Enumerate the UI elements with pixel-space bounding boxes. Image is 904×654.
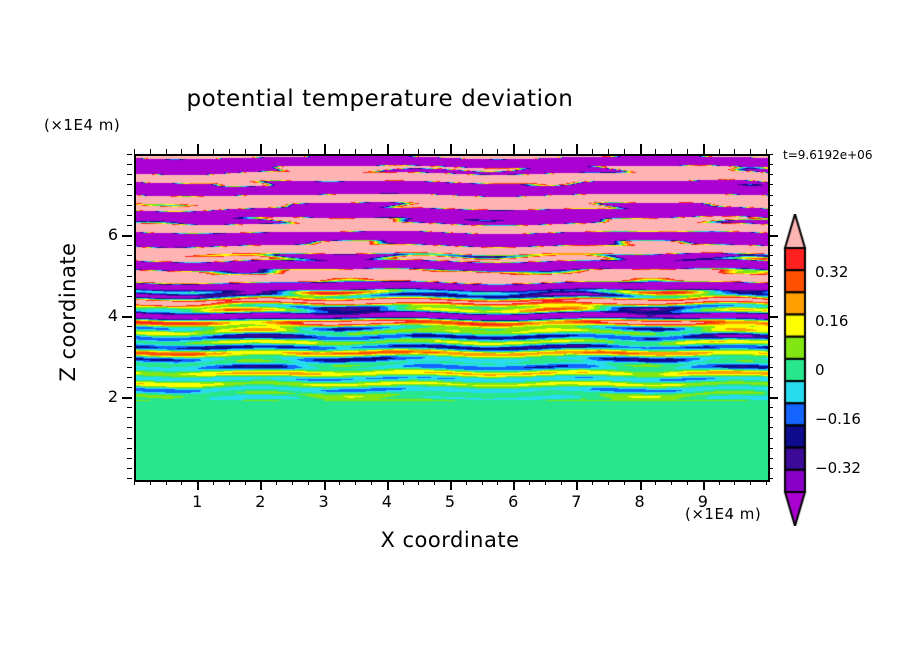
z-minor-tick-right — [768, 458, 773, 459]
x-minor-tick-top — [371, 149, 372, 154]
z-minor-tick-right — [768, 195, 773, 196]
z-minor-tick — [127, 205, 132, 206]
z-minor-tick-right — [768, 215, 773, 216]
x-major-tick-top — [324, 144, 326, 154]
z-minor-tick-right — [768, 296, 773, 297]
x-minor-tick-top — [624, 149, 625, 154]
z-minor-tick-right — [768, 417, 773, 418]
z-minor-tick-right — [768, 336, 773, 337]
time-annotation: t=9.6192e+06 — [783, 148, 872, 162]
z-minor-tick — [127, 276, 132, 277]
x-minor-tick — [529, 480, 530, 485]
x-minor-tick-top — [608, 149, 609, 154]
x-minor-tick — [466, 480, 467, 485]
x-minor-tick — [339, 480, 340, 485]
x-major-tick — [260, 480, 262, 490]
z-minor-tick-right — [768, 205, 773, 206]
colorbar-tick-label: 0.16 — [815, 312, 848, 330]
colorbar-tick-label: −0.16 — [815, 410, 861, 428]
x-minor-tick-top — [497, 149, 498, 154]
x-minor-tick — [624, 480, 625, 485]
x-minor-tick — [482, 480, 483, 485]
x-minor-tick — [229, 480, 230, 485]
z-minor-tick — [127, 265, 132, 266]
z-minor-tick — [127, 478, 132, 479]
z-minor-tick-right — [768, 478, 773, 479]
x-major-tick-top — [703, 144, 705, 154]
x-minor-tick-top — [545, 149, 546, 154]
x-minor-tick-top — [529, 149, 530, 154]
z-minor-tick-right — [768, 154, 773, 155]
z-minor-tick-right — [768, 438, 773, 439]
x-minor-tick-top — [561, 149, 562, 154]
x-minor-tick-top — [292, 149, 293, 154]
x-tick-label: 5 — [435, 492, 465, 511]
x-major-tick-top — [513, 144, 515, 154]
z-axis-unit-label: (×1E4 m) — [44, 116, 120, 134]
z-minor-tick — [127, 417, 132, 418]
x-minor-tick-top — [339, 149, 340, 154]
z-minor-tick — [127, 225, 132, 226]
x-major-tick — [324, 480, 326, 490]
z-minor-tick-right — [768, 377, 773, 378]
z-major-tick — [122, 316, 132, 318]
z-minor-tick-right — [768, 407, 773, 408]
x-major-tick-top — [450, 144, 452, 154]
z-minor-tick — [127, 255, 132, 256]
x-minor-tick — [545, 480, 546, 485]
x-minor-tick — [181, 480, 182, 485]
x-minor-tick — [734, 480, 735, 485]
x-minor-tick-top — [418, 149, 419, 154]
z-minor-tick-right — [768, 306, 773, 307]
z-major-tick — [122, 235, 132, 237]
z-minor-tick-right — [768, 184, 773, 185]
z-minor-tick-right — [768, 286, 773, 287]
z-minor-tick-right — [768, 174, 773, 175]
z-minor-tick-right — [768, 387, 773, 388]
z-minor-tick — [127, 387, 132, 388]
x-tick-label: 3 — [309, 492, 339, 511]
x-minor-tick — [719, 480, 720, 485]
z-major-tick-right — [768, 397, 778, 399]
x-major-tick — [450, 480, 452, 490]
z-minor-tick — [127, 195, 132, 196]
x-tick-label: 7 — [561, 492, 591, 511]
colorbar-tick-label: 0.32 — [815, 263, 848, 281]
x-minor-tick-top — [655, 149, 656, 154]
z-minor-tick-right — [768, 245, 773, 246]
x-minor-tick — [766, 480, 767, 485]
x-major-tick — [640, 480, 642, 490]
x-minor-tick — [213, 480, 214, 485]
z-minor-tick-right — [768, 448, 773, 449]
z-minor-tick-right — [768, 468, 773, 469]
z-minor-tick-right — [768, 346, 773, 347]
z-minor-tick — [127, 215, 132, 216]
z-minor-tick — [127, 306, 132, 307]
z-minor-tick — [127, 438, 132, 439]
x-minor-tick-top — [466, 149, 467, 154]
z-minor-tick — [127, 296, 132, 297]
x-minor-tick-top — [434, 149, 435, 154]
z-minor-tick-right — [768, 225, 773, 226]
colorbar — [783, 214, 807, 526]
z-minor-tick-right — [768, 357, 773, 358]
x-minor-tick-top — [719, 149, 720, 154]
x-minor-tick — [308, 480, 309, 485]
x-minor-tick-top — [482, 149, 483, 154]
z-minor-tick — [127, 164, 132, 165]
z-minor-tick-right — [768, 255, 773, 256]
x-minor-tick — [134, 480, 135, 485]
x-minor-tick-top — [403, 149, 404, 154]
x-major-tick — [703, 480, 705, 490]
x-minor-tick-top — [276, 149, 277, 154]
x-minor-tick — [671, 480, 672, 485]
x-minor-tick-top — [213, 149, 214, 154]
z-minor-tick — [127, 407, 132, 408]
x-minor-tick-top — [181, 149, 182, 154]
x-major-tick — [576, 480, 578, 490]
x-minor-tick — [403, 480, 404, 485]
x-minor-tick-top — [166, 149, 167, 154]
z-minor-tick-right — [768, 326, 773, 327]
z-minor-tick-right — [768, 427, 773, 428]
x-minor-tick-top — [245, 149, 246, 154]
z-minor-tick — [127, 336, 132, 337]
x-minor-tick — [166, 480, 167, 485]
z-minor-tick — [127, 286, 132, 287]
z-minor-tick — [127, 184, 132, 185]
z-minor-tick — [127, 458, 132, 459]
x-minor-tick-top — [734, 149, 735, 154]
x-minor-tick — [608, 480, 609, 485]
x-minor-tick-top — [671, 149, 672, 154]
z-minor-tick — [127, 367, 132, 368]
x-tick-label: 1 — [182, 492, 212, 511]
x-minor-tick — [371, 480, 372, 485]
x-tick-label: 6 — [498, 492, 528, 511]
z-minor-tick — [127, 468, 132, 469]
z-major-tick — [122, 397, 132, 399]
x-minor-tick-top — [750, 149, 751, 154]
x-minor-tick — [750, 480, 751, 485]
colorbar-tick-label: −0.32 — [815, 459, 861, 477]
x-minor-tick-top — [308, 149, 309, 154]
x-major-tick-top — [197, 144, 199, 154]
x-minor-tick — [687, 480, 688, 485]
y-axis-title: Z coordinate — [56, 222, 80, 402]
x-minor-tick — [434, 480, 435, 485]
figure-canvas: potential temperature deviation (×1E4 m)… — [0, 0, 904, 654]
x-major-tick — [197, 480, 199, 490]
x-tick-label: 8 — [625, 492, 655, 511]
x-minor-tick — [245, 480, 246, 485]
x-major-tick — [513, 480, 515, 490]
z-minor-tick — [127, 174, 132, 175]
x-major-tick — [387, 480, 389, 490]
z-minor-tick — [127, 448, 132, 449]
z-minor-tick — [127, 427, 132, 428]
x-major-tick-top — [640, 144, 642, 154]
x-minor-tick-top — [766, 149, 767, 154]
x-axis-unit-label: (×1E4 m) — [685, 505, 761, 523]
z-major-tick-right — [768, 316, 778, 318]
x-minor-tick — [355, 480, 356, 485]
x-tick-label: 2 — [245, 492, 275, 511]
x-minor-tick — [150, 480, 151, 485]
contour-field — [136, 156, 768, 480]
z-major-tick-right — [768, 235, 778, 237]
z-minor-tick — [127, 377, 132, 378]
x-minor-tick-top — [592, 149, 593, 154]
x-minor-tick-top — [150, 149, 151, 154]
x-minor-tick — [497, 480, 498, 485]
x-minor-tick-top — [355, 149, 356, 154]
z-minor-tick — [127, 326, 132, 327]
z-tick-label: 6 — [92, 225, 118, 244]
z-minor-tick — [127, 346, 132, 347]
x-minor-tick-top — [134, 149, 135, 154]
x-minor-tick-top — [687, 149, 688, 154]
x-minor-tick — [276, 480, 277, 485]
x-minor-tick-top — [229, 149, 230, 154]
x-minor-tick — [418, 480, 419, 485]
z-minor-tick-right — [768, 265, 773, 266]
x-major-tick-top — [387, 144, 389, 154]
x-minor-tick — [592, 480, 593, 485]
z-tick-label: 4 — [92, 306, 118, 325]
z-minor-tick — [127, 154, 132, 155]
x-minor-tick — [655, 480, 656, 485]
x-axis-title: X coordinate — [134, 528, 766, 552]
colorbar-tick-label: 0 — [815, 361, 825, 379]
page-title: potential temperature deviation — [0, 86, 760, 112]
x-minor-tick — [292, 480, 293, 485]
z-minor-tick — [127, 245, 132, 246]
x-minor-tick — [561, 480, 562, 485]
z-minor-tick-right — [768, 367, 773, 368]
z-minor-tick-right — [768, 164, 773, 165]
z-minor-tick-right — [768, 276, 773, 277]
colorbar-gradient — [783, 214, 807, 526]
z-minor-tick — [127, 357, 132, 358]
x-major-tick-top — [576, 144, 578, 154]
plot-area — [134, 154, 770, 482]
x-major-tick-top — [260, 144, 262, 154]
x-tick-label: 4 — [372, 492, 402, 511]
z-tick-label: 2 — [92, 387, 118, 406]
